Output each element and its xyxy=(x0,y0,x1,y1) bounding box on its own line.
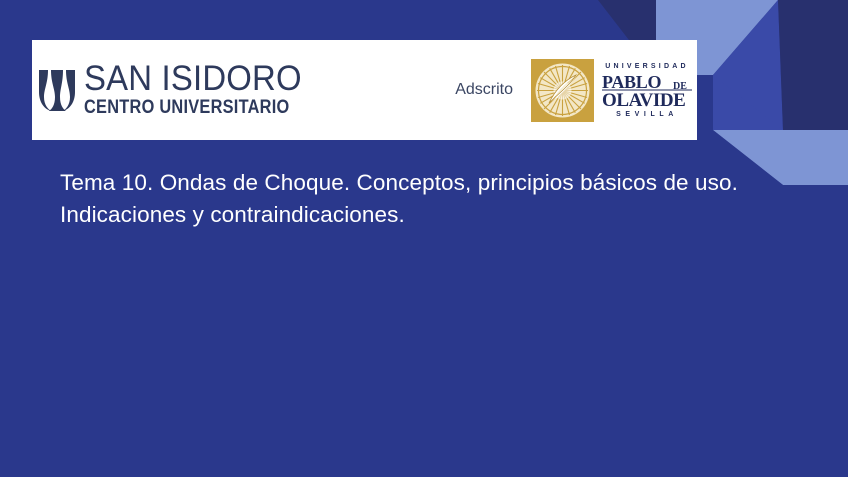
adscrito-label: Adscrito xyxy=(455,81,513,99)
san-isidoro-logo: SAN ISIDORO CENTRO UNIVERSITARIO xyxy=(38,62,323,118)
geo-royal-blue-wedge xyxy=(713,0,783,130)
pablo-olavide-logo: Adscrito xyxy=(455,59,693,122)
geo-dark-navy-right xyxy=(778,0,848,130)
slide-title: Tema 10. Ondas de Choque. Conceptos, pri… xyxy=(60,167,820,231)
upo-name-lockup: PABLO DE OLAVIDE xyxy=(601,71,693,109)
san-isidoro-main-text: SAN ISIDORO xyxy=(84,62,309,96)
pablo-olavide-gold-sunburst-emblem xyxy=(531,59,594,122)
upo-olavide-text: OLAVIDE xyxy=(602,90,685,109)
upo-universidad-text: UNIVERSIDAD xyxy=(605,63,688,70)
san-isidoro-wordmark: SAN ISIDORO CENTRO UNIVERSITARIO xyxy=(84,62,323,118)
upo-sevilla-text: SEVILLA xyxy=(616,111,678,118)
upo-pablo-text: PABLO xyxy=(602,72,661,92)
san-isidoro-shield-emblem xyxy=(38,67,76,113)
logo-banner: SAN ISIDORO CENTRO UNIVERSITARIO Adscrit… xyxy=(32,40,697,140)
geo-royal-blue-small xyxy=(713,75,783,130)
presentation-slide: SAN ISIDORO CENTRO UNIVERSITARIO Adscrit… xyxy=(0,0,848,477)
pablo-olavide-wordmark: UNIVERSIDAD PABLO DE OLAVIDE SEVILLA xyxy=(601,63,693,118)
san-isidoro-sub-text: CENTRO UNIVERSITARIO xyxy=(84,98,289,118)
